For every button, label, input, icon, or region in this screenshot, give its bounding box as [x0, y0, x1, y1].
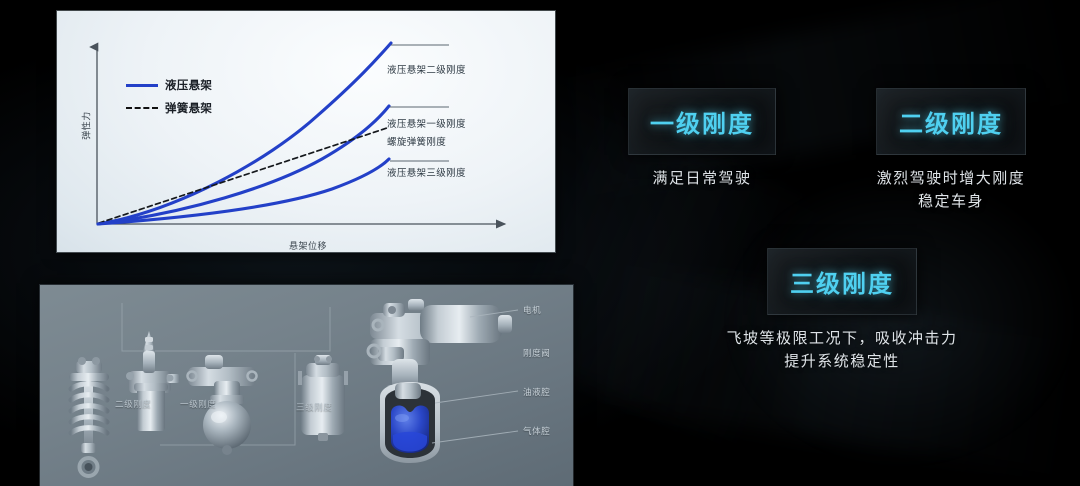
y-axis-label: 弹性力: [80, 91, 93, 161]
curve-hydraulic-level-2: [98, 43, 391, 224]
stiffness-level-3-card: 三级刚度 飞坡等极限工况下，吸收冲击力 提升系统稳定性: [718, 248, 966, 373]
suspension-component-diagram: [40, 285, 573, 486]
legend-label-spring: 弹簧悬架: [165, 100, 212, 116]
level-1-badge: 一级刚度: [628, 88, 776, 155]
level-1-badge-label: 一级刚度: [650, 104, 754, 139]
diagram-label-level-1: 一级刚度: [180, 398, 216, 410]
diagram-label-motor: 电机: [523, 304, 541, 316]
diagram-label-stiffness-valve: 刚度阀: [523, 347, 550, 359]
level-3-badge: 三级刚度: [767, 248, 917, 315]
curve-hydraulic-level-1: [98, 106, 389, 224]
stiffness-level-2-card: 二级刚度 激烈驾驶时增大刚度 稳定车身: [838, 88, 1064, 213]
level-3-description: 飞坡等极限工况下，吸收冲击力 提升系统稳定性: [718, 328, 966, 373]
stiffness-curve-chart-panel: 弹性力 悬架位移 液压悬架 弹簧悬架 液压悬架二级刚度 液压悬架一级刚度 螺旋弹…: [57, 11, 555, 252]
coil-spring-strut-part: [69, 357, 109, 476]
slide-root: 弹性力 悬架位移 液压悬架 弹簧悬架 液压悬架二级刚度 液压悬架一级刚度 螺旋弹…: [0, 0, 1080, 486]
annotation-hydraulic-level-3: 液压悬架三级刚度: [387, 165, 466, 179]
level-2-badge-label: 二级刚度: [899, 104, 1003, 139]
level-1-description: 满足日常驾驶: [613, 168, 791, 191]
cutaway-accumulator-part: [380, 382, 440, 463]
diagram-label-level-2: 二级刚度: [115, 398, 151, 410]
annotation-hydraulic-level-1: 液压悬架一级刚度: [387, 116, 466, 130]
stiffness-level-1-card: 一级刚度 满足日常驾驶: [613, 88, 791, 191]
diagram-label-level-3: 三级刚度: [296, 401, 332, 413]
diagram-label-gas-chamber: 气体腔: [523, 425, 550, 437]
level-3-canister-part: [298, 355, 348, 441]
legend-label-hydraulic: 液压悬架: [165, 77, 212, 93]
legend-item-spring: 弹簧悬架: [126, 100, 212, 116]
annotation-hydraulic-level-2: 液压悬架二级刚度: [387, 62, 466, 76]
level-3-badge-label: 三级刚度: [790, 264, 894, 299]
suspension-component-diagram-panel: 二级刚度 一级刚度 三级刚度 电机 刚度阀 油液腔 气体腔: [40, 285, 573, 486]
legend-item-hydraulic: 液压悬架: [126, 77, 212, 93]
x-axis-label: 悬架位移: [289, 239, 327, 252]
annotation-coil-spring: 螺旋弹簧刚度: [387, 134, 446, 148]
stiffness-curve-chart: [57, 11, 555, 252]
diagram-label-oil-chamber: 油液腔: [523, 386, 550, 398]
level-2-stiffness-valve-part: [126, 331, 180, 431]
level-2-badge: 二级刚度: [876, 88, 1026, 155]
level-2-description: 激烈驾驶时增大刚度 稳定车身: [838, 168, 1064, 213]
legend-swatch-dashed-line: [126, 107, 158, 109]
legend-swatch-solid-line: [126, 84, 158, 87]
